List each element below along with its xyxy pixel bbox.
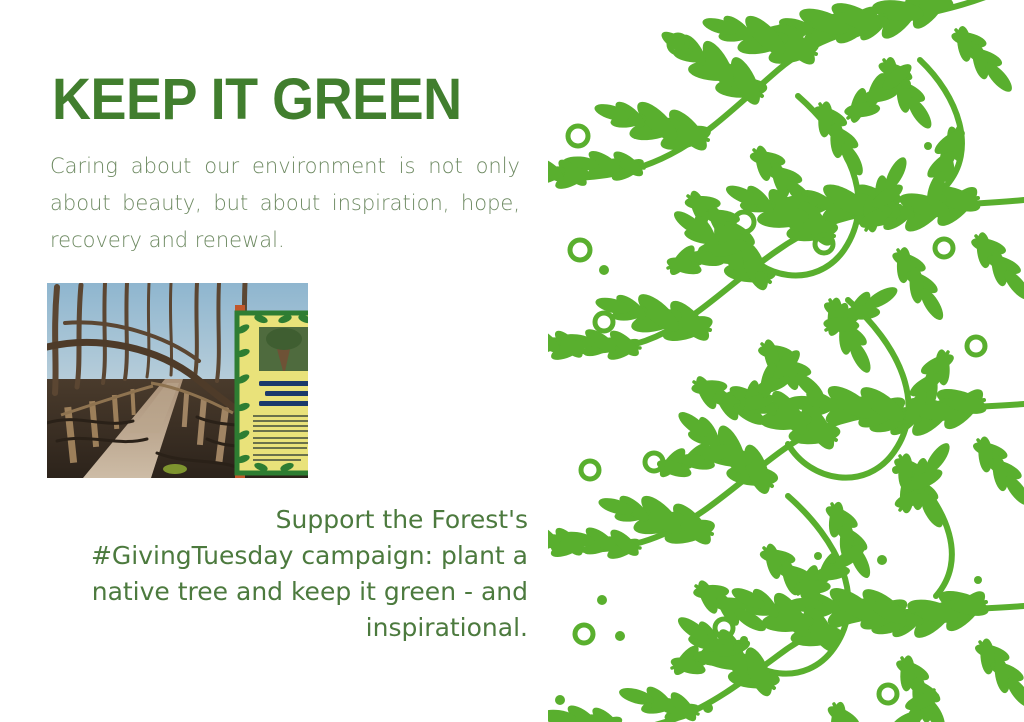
content-column: KEEP IT GREEN Caring about our environme…: [0, 0, 560, 722]
cta-line-2: #GivingTuesday campaign: plant a: [91, 541, 528, 570]
lede-line-1: Caring about our environment is not only: [50, 154, 520, 178]
lede-line-2: about beauty, but about inspiration, hop…: [50, 191, 520, 215]
leafy-vine-pattern-icon: [548, 0, 1024, 722]
forest-photo-illustration: [47, 283, 308, 478]
lede-line-3: recovery and renewal.: [50, 228, 285, 252]
page-title: KEEP IT GREEN: [52, 70, 489, 130]
forest-photo: [47, 283, 308, 478]
call-to-action: Support the Forest's #GivingTuesday camp…: [60, 502, 528, 646]
lede-paragraph: Caring about our environment is not only…: [50, 148, 520, 259]
interpretive-sign: [235, 313, 308, 473]
cta-line-3: native tree and keep it green - and: [92, 577, 528, 606]
poster-canvas: KEEP IT GREEN Caring about our environme…: [0, 0, 1024, 722]
cta-line-1: Support the Forest's: [276, 505, 528, 534]
vine-pattern-panel: [548, 0, 1024, 722]
cta-line-4: inspirational.: [366, 613, 528, 642]
